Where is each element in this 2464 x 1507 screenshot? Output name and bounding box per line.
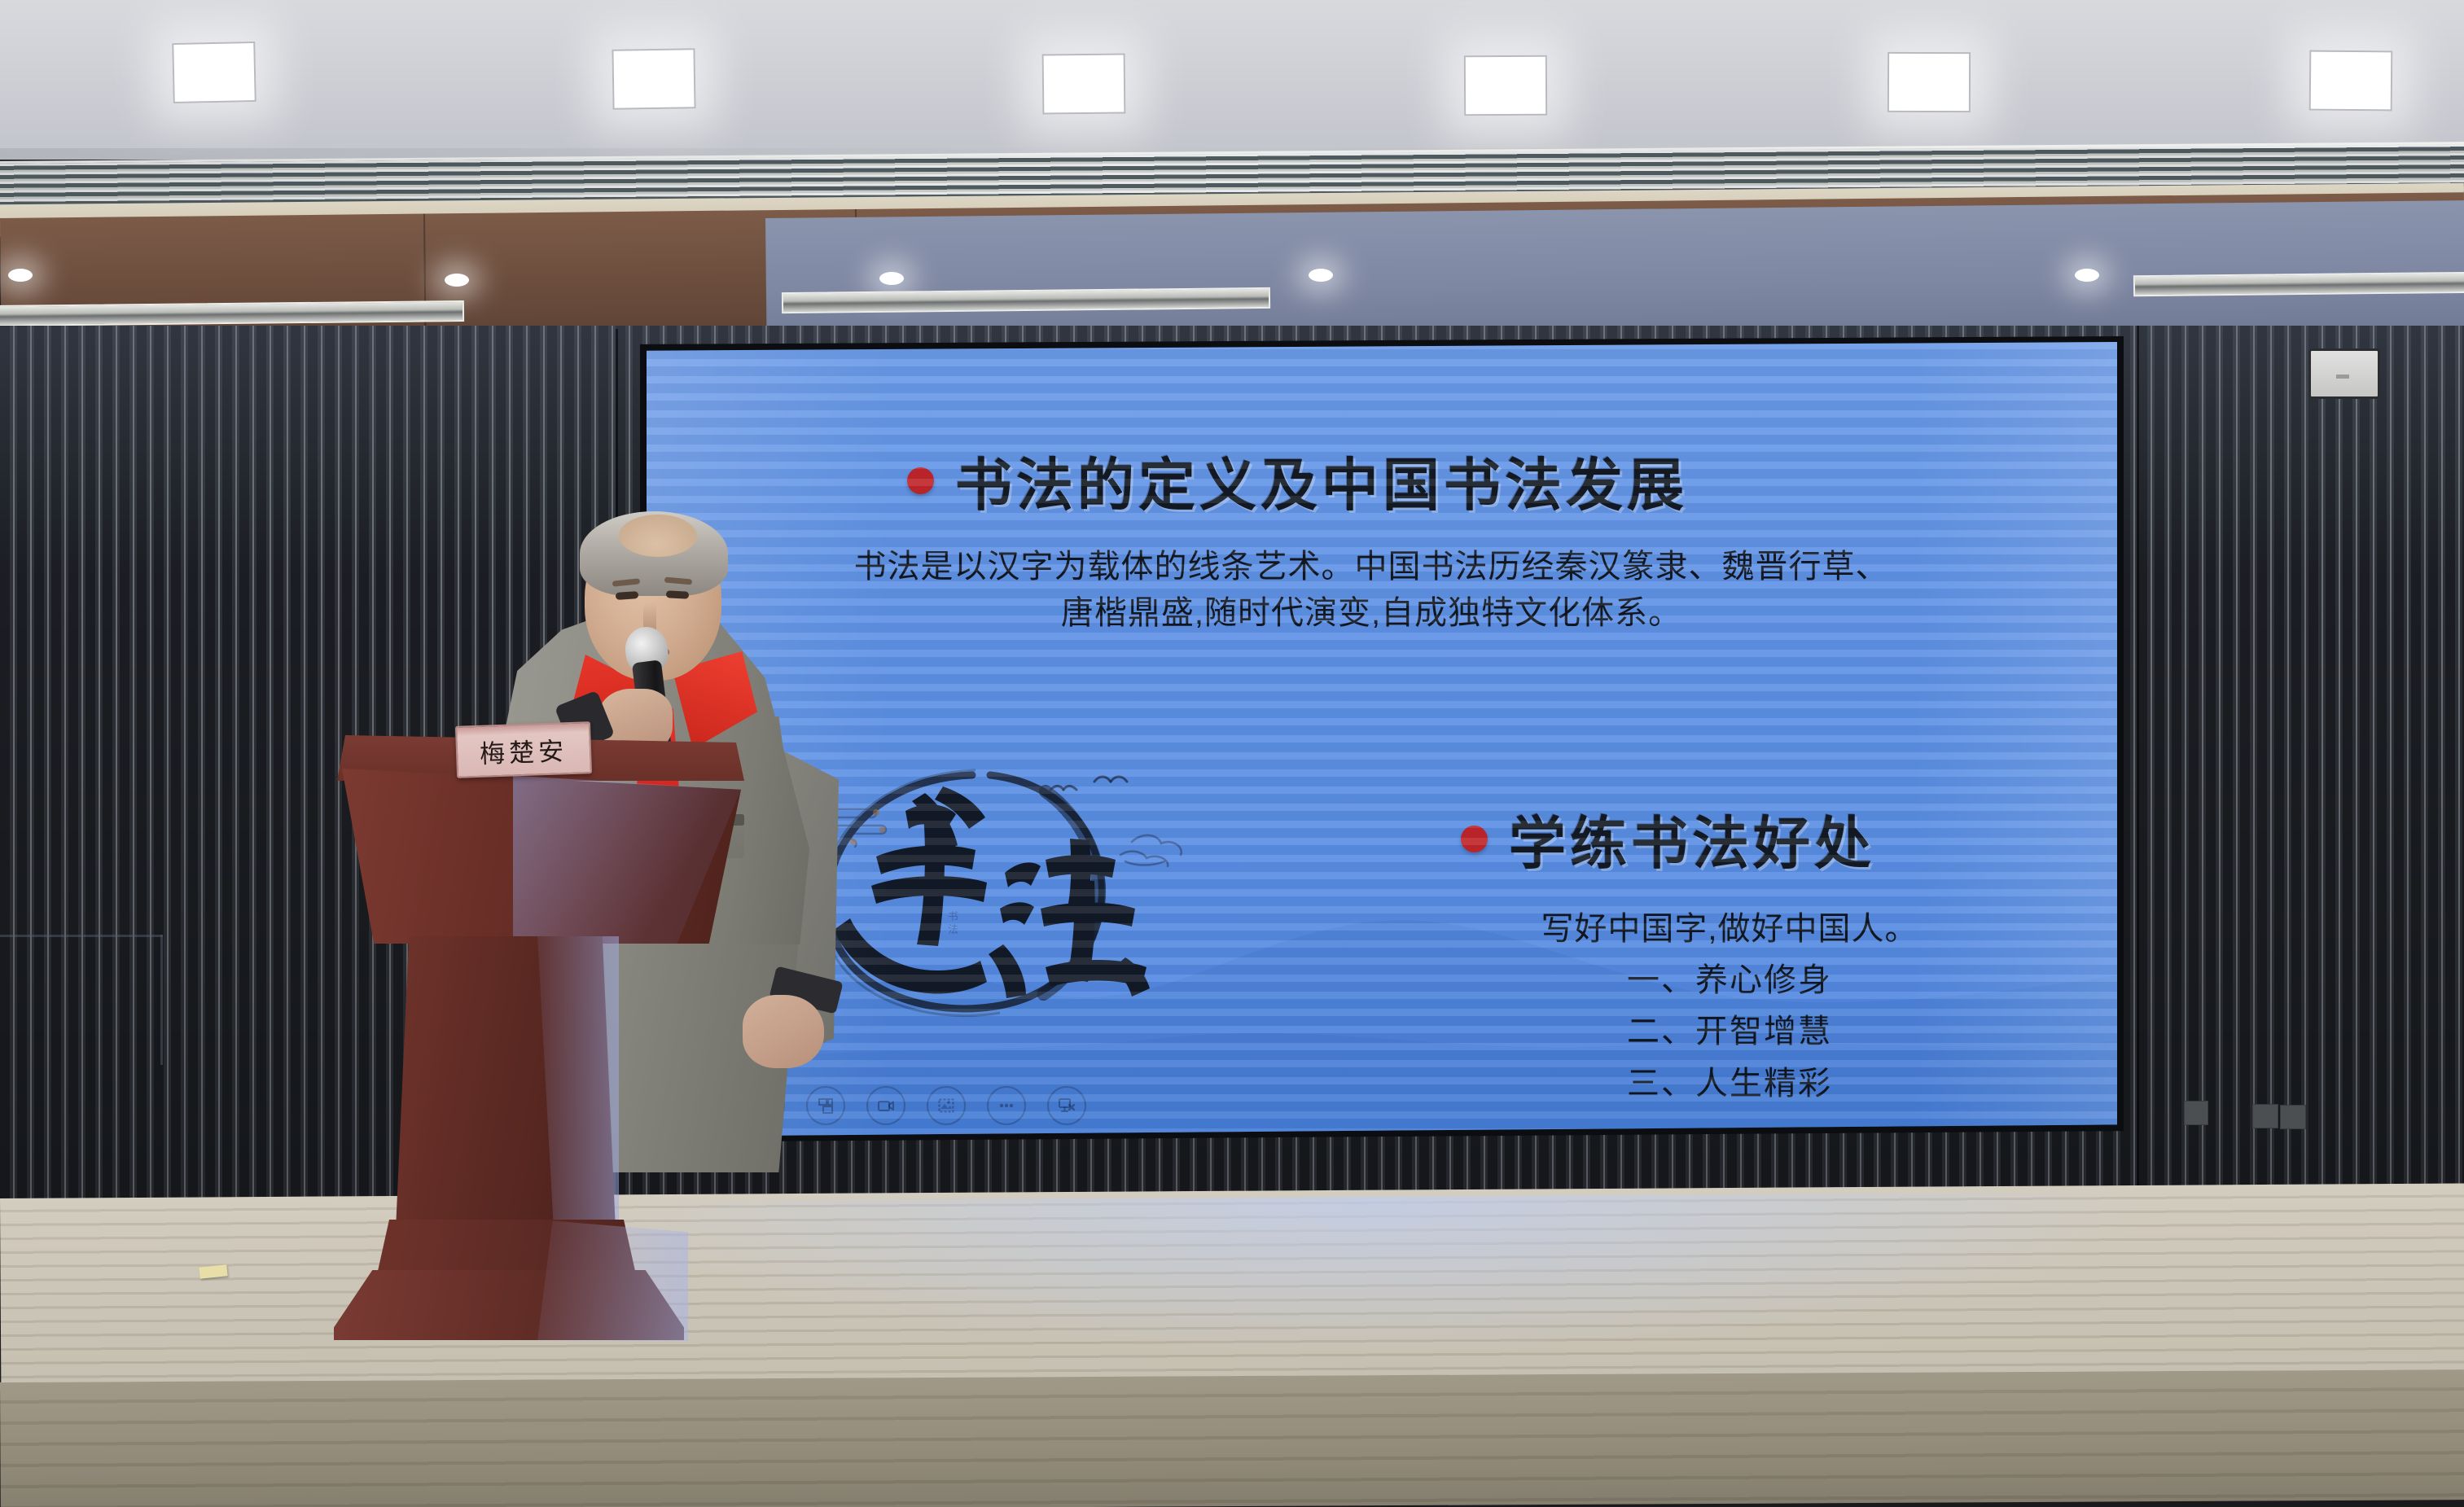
podium-front-panel bbox=[342, 769, 741, 944]
slide-benefits-lead: 写好中国字,做好中国人。 bbox=[1445, 904, 2015, 955]
speaker-forehead bbox=[619, 515, 697, 557]
slide-body-text-1: 书法是以汉字为载体的线条艺术。中国书法历经秦汉篆隶、魏晋行草、唐楷鼎盛,随时代演… bbox=[850, 544, 1892, 637]
wall-outlet-plate bbox=[2184, 1101, 2208, 1125]
more-icon[interactable] bbox=[987, 1086, 1026, 1125]
svg-text:书: 书 bbox=[948, 910, 958, 922]
wall-outlet-plate bbox=[2252, 1104, 2278, 1128]
recessed-downlight bbox=[445, 274, 469, 287]
speaker-eye-left bbox=[616, 591, 639, 600]
ceiling-light-panel bbox=[1464, 55, 1547, 116]
recessed-downlight bbox=[2075, 269, 2099, 282]
wall-seam bbox=[2137, 326, 2139, 1189]
ceiling bbox=[0, 0, 2464, 160]
slide-heading-1: 书法的定义及中国书法发展 bbox=[955, 440, 1688, 522]
slide-benefit-item: 三、人生精彩 bbox=[1445, 1058, 2015, 1110]
video-camera-icon[interactable] bbox=[866, 1086, 905, 1125]
slide-benefit-item: 二、开智增慧 bbox=[1445, 1006, 2015, 1058]
svg-text:法: 法 bbox=[948, 923, 958, 935]
calligraphy-brush-art: 书 法 bbox=[801, 757, 1184, 1026]
red-dot-bullet-icon bbox=[907, 467, 934, 494]
podium-nameplate-text: 梅楚安 bbox=[479, 730, 568, 770]
stage-apron bbox=[0, 1369, 2464, 1507]
ceiling-light-panel bbox=[1042, 53, 1126, 114]
speaker-eye-right bbox=[666, 590, 689, 598]
led-presentation-screen[interactable]: 书法的定义及中国书法发展 书法是以汉字为载体的线条艺术。中国书法历经秦汉篆隶、魏… bbox=[647, 342, 2117, 1137]
slide-heading-2: 学练书法好处 bbox=[1509, 798, 1875, 880]
end-show-icon[interactable] bbox=[1047, 1086, 1086, 1125]
recessed-downlight bbox=[8, 269, 33, 282]
ceiling-light-panel bbox=[172, 42, 256, 103]
ceiling-light-panel bbox=[612, 48, 695, 110]
slide-heading-2-row: 学练书法好处 bbox=[1461, 798, 1875, 880]
podium-column bbox=[396, 936, 616, 1229]
soffit-linear-vent bbox=[2133, 272, 2464, 296]
recessed-downlight bbox=[1309, 269, 1333, 282]
wall-mounted-speaker-box bbox=[2308, 348, 2380, 399]
wall-access-panel-edge bbox=[0, 935, 163, 937]
wall-outlet-plate bbox=[2280, 1105, 2306, 1129]
wall-access-panel-edge bbox=[160, 935, 163, 1065]
slide-benefit-item: 一、养心修身 bbox=[1445, 955, 2015, 1006]
podium-base-lower bbox=[334, 1270, 684, 1340]
podium-base-upper bbox=[376, 1220, 637, 1278]
speaker-right-hand bbox=[743, 995, 824, 1068]
slide-heading-1-row: 书法的定义及中国书法发展 bbox=[907, 440, 1688, 522]
image-icon[interactable] bbox=[927, 1086, 966, 1125]
slide-benefits-block: 写好中国字,做好中国人。 一、养心修身 二、开智增慧 三、人生精彩 bbox=[1445, 904, 2015, 1110]
red-dot-bullet-icon bbox=[1461, 826, 1488, 852]
ceiling-light-panel bbox=[1887, 52, 1971, 112]
ceiling-light-panel bbox=[2309, 50, 2393, 112]
podium-nameplate: 梅楚安 bbox=[455, 721, 592, 778]
apron-wood-grain bbox=[0, 1369, 2464, 1507]
recessed-downlight bbox=[879, 272, 904, 285]
lecture-hall-photo: 书法的定义及中国书法发展 书法是以汉字为载体的线条艺术。中国书法历经秦汉篆隶、魏… bbox=[0, 0, 2464, 1507]
layout-icon[interactable] bbox=[806, 1086, 845, 1125]
